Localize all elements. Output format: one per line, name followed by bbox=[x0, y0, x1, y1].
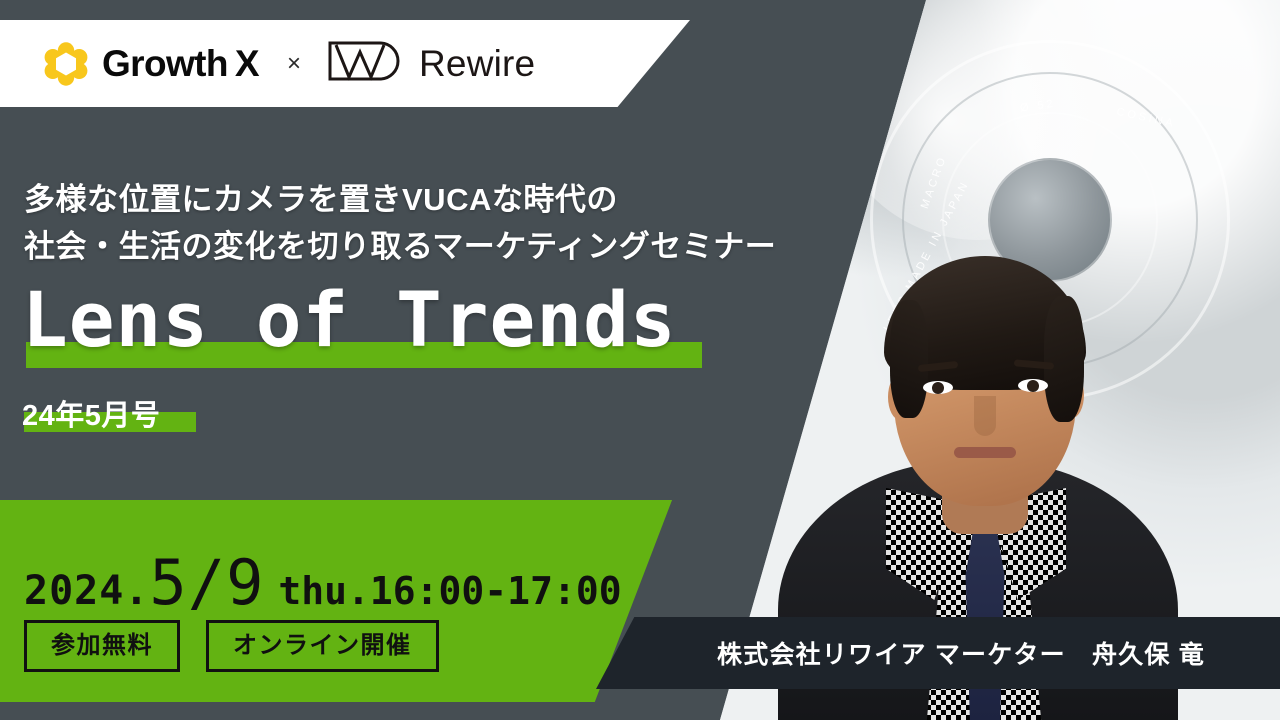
growthx-wordmark-x: X bbox=[235, 43, 259, 84]
portrait-eye-left bbox=[923, 381, 953, 394]
event-date-year: 2024. bbox=[24, 568, 149, 614]
seminar-subtitle: 多様な位置にカメラを置きVUCAな時代の 社会・生活の変化を切り取るマーケティン… bbox=[24, 176, 824, 270]
event-date-day: 5/9 bbox=[149, 546, 264, 619]
event-datetime: 2024. 5/9 thu.16:00-17:00 bbox=[24, 546, 622, 619]
speaker-credit-text: 株式会社リワイア マーケター 舟久保 竜 bbox=[671, 635, 1205, 671]
event-badges: 参加無料 オンライン開催 bbox=[24, 620, 439, 672]
growthx-logo: GrowthX bbox=[44, 42, 259, 86]
subtitle-line-1: 多様な位置にカメラを置きVUCAな時代の bbox=[24, 176, 824, 223]
badge-free-admission: 参加無料 bbox=[24, 620, 180, 672]
portrait-nose bbox=[974, 396, 996, 436]
portrait-mouth bbox=[954, 447, 1016, 458]
growthx-wordmark-growth: Growth bbox=[102, 43, 228, 84]
page-title: Lens of Trends bbox=[22, 282, 677, 358]
badge-online-event: オンライン開催 bbox=[206, 620, 439, 672]
cross-multiply-icon: × bbox=[287, 50, 301, 78]
cobranding-header-bar: GrowthX × Rewire bbox=[0, 20, 690, 107]
issue-block: 24年5月号 bbox=[22, 392, 160, 434]
issue-label: 24年5月号 bbox=[22, 392, 160, 434]
rewire-logo: Rewire bbox=[327, 40, 535, 87]
seminar-poster: LENS MADE IN JAPAN MACRO Ø 52 COSINA MAC… bbox=[0, 0, 1280, 720]
rewire-wordmark: Rewire bbox=[419, 43, 535, 85]
speaker-credit-bar: 株式会社リワイア マーケター 舟久保 竜 bbox=[596, 617, 1280, 689]
event-date-banner: 2024. 5/9 thu.16:00-17:00 参加無料 オンライン開催 bbox=[0, 500, 690, 702]
title-block: Lens of Trends bbox=[22, 282, 677, 358]
rewire-w-capsule-icon bbox=[327, 40, 401, 87]
speaker-photo-panel: LENS MADE IN JAPAN MACRO Ø 52 COSINA MAC… bbox=[720, 0, 1280, 720]
growthx-hexagon-flower-icon bbox=[44, 42, 88, 86]
portrait-hair bbox=[884, 256, 1086, 390]
portrait-eye-right bbox=[1018, 379, 1048, 392]
subtitle-line-2: 社会・生活の変化を切り取るマーケティングセミナー bbox=[24, 223, 824, 270]
growthx-wordmark: GrowthX bbox=[102, 43, 259, 85]
event-time-range: thu.16:00-17:00 bbox=[278, 569, 621, 613]
